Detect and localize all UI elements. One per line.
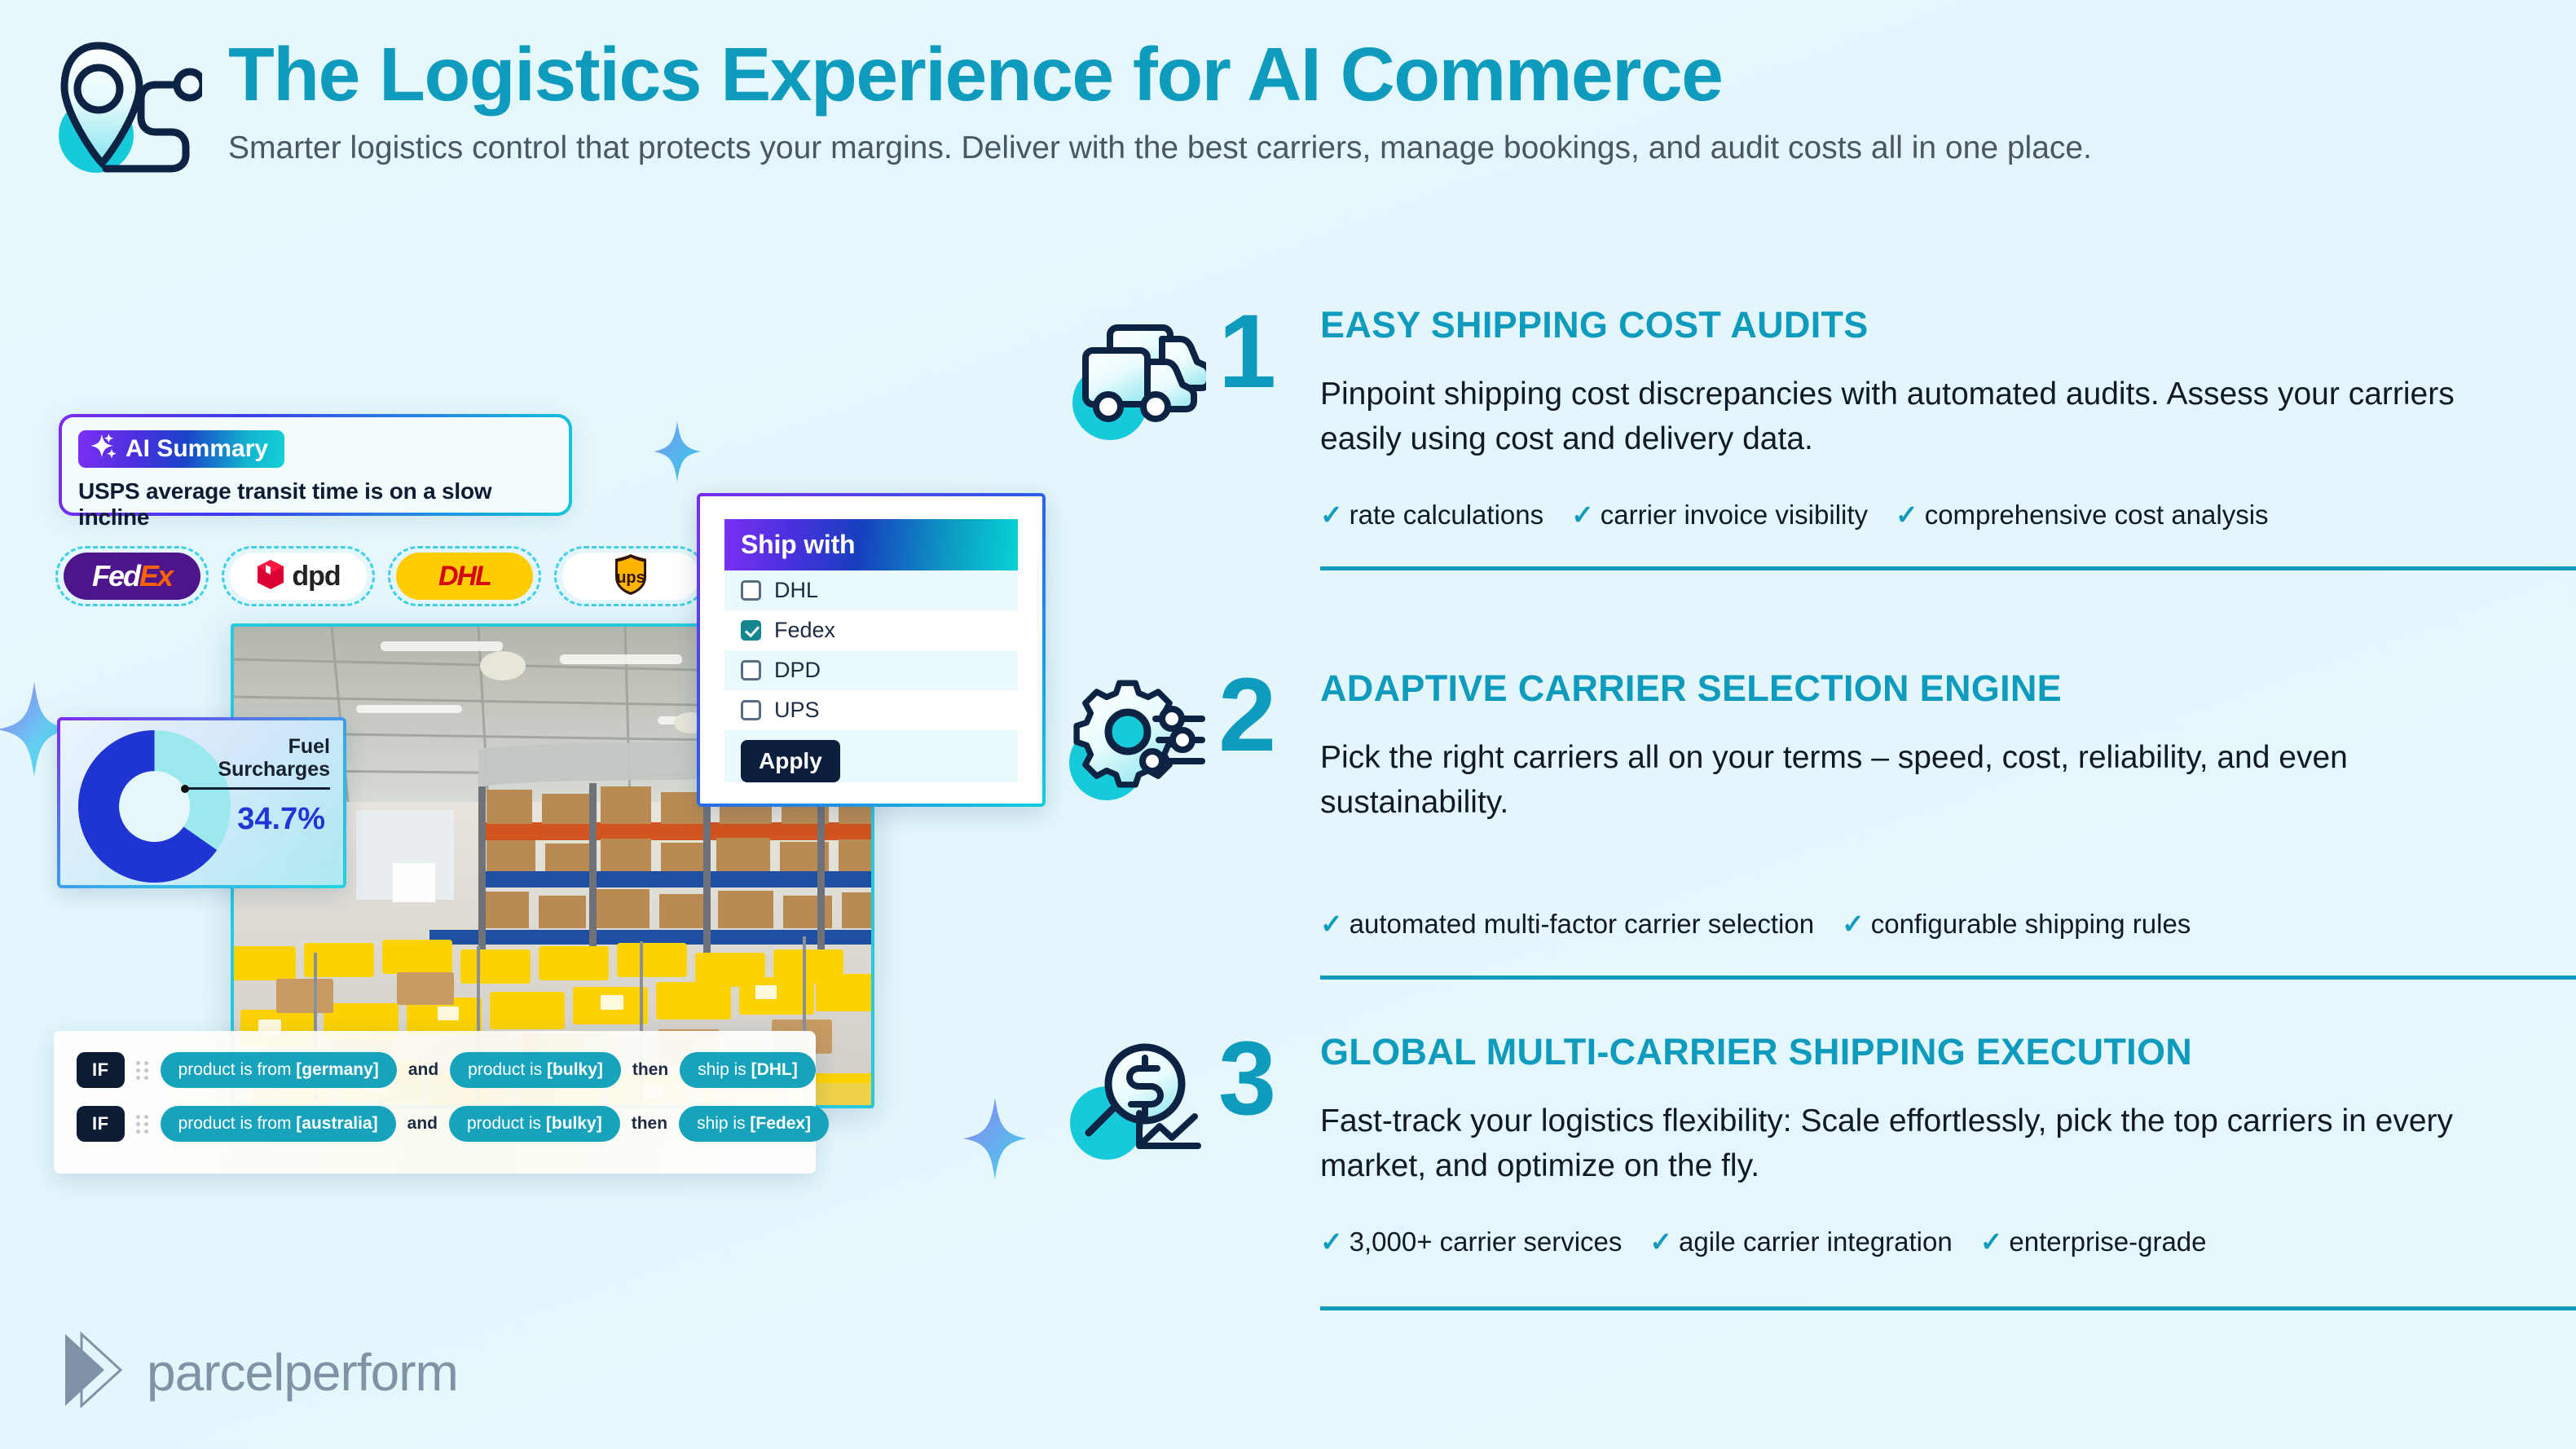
sparkle-icon: [652, 420, 702, 487]
fuel-surcharges-chart-card: Fuel Surcharges 34.7%: [57, 717, 346, 888]
brand-name: parcelperform: [147, 1342, 458, 1403]
callout-line: [187, 787, 330, 790]
parcelperform-triangle-icon: [59, 1331, 127, 1413]
product-visual-collage: AI Summary USPS average transit time is …: [0, 342, 1059, 1279]
feature-item-3: 3 GLOBAL MULTI-CARRIER SHIPPING EXECUTIO…: [1068, 1032, 2526, 1372]
rule-then: then: [632, 1114, 667, 1134]
if-badge: IF: [77, 1052, 125, 1088]
dpd-logo: dpd: [292, 561, 340, 592]
donut-chart-label: Fuel Surcharges: [183, 735, 330, 781]
check-icon: ✓: [1842, 909, 1865, 939]
svg-text:ups: ups: [616, 569, 645, 587]
feature-tag: ✓automated multi-factor carrier selectio…: [1320, 908, 1814, 940]
option-label: UPS: [774, 698, 820, 723]
check-icon: ✓: [1649, 1227, 1672, 1257]
apply-button[interactable]: Apply: [741, 740, 840, 782]
feature-description: Pinpoint shipping cost discrepancies wit…: [1320, 372, 2526, 462]
option-label: Fedex: [774, 618, 835, 643]
carrier-logo-row: FedEx dpd DHL: [55, 546, 707, 606]
rule-condition-2[interactable]: product is [bulky]: [449, 1106, 620, 1142]
ship-with-option-dpd[interactable]: DPD: [724, 650, 1018, 690]
feature-title: EASY SHIPPING COST AUDITS: [1320, 305, 2526, 346]
rule-conjunction: and: [407, 1114, 438, 1134]
feature-tags: ✓automated multi-factor carrier selectio…: [1320, 908, 2526, 940]
ship-with-panel: Ship with DHL Fedex DPD UPS Apply: [697, 493, 1046, 807]
feature-tag: ✓agile carrier integration: [1649, 1226, 1952, 1257]
check-icon: ✓: [1320, 1227, 1343, 1257]
feature-tags: ✓rate calculations ✓carrier invoice visi…: [1320, 499, 2526, 531]
feature-title: GLOBAL MULTI-CARRIER SHIPPING EXECUTION: [1320, 1032, 2526, 1072]
rule-action[interactable]: ship is [DHL]: [680, 1052, 816, 1088]
option-label: DPD: [774, 658, 821, 683]
check-icon: ✓: [1320, 909, 1343, 939]
feature-list: 1 EASY SHIPPING COST AUDITS Pinpoint shi…: [1068, 302, 2526, 1372]
drag-handle-icon[interactable]: [136, 1112, 149, 1136]
feature-item-2: 2 ADAPTIVE CARRIER SELECTION ENGINE Pick…: [1068, 668, 2526, 1009]
shipping-rules-card: IF product is from [germany] and product…: [54, 1031, 816, 1174]
ship-with-option-dhl[interactable]: DHL: [724, 570, 1018, 610]
rule-action[interactable]: ship is [Fedex]: [679, 1106, 829, 1142]
feature-number: 1: [1218, 300, 1273, 404]
option-label: DHL: [774, 578, 818, 603]
ship-with-option-fedex[interactable]: Fedex: [724, 610, 1018, 650]
checkbox-unchecked-icon[interactable]: [741, 700, 761, 720]
feature-number: 3: [1218, 1027, 1273, 1131]
if-badge: IF: [77, 1106, 125, 1142]
feature-tag: ✓comprehensive cost analysis: [1896, 499, 2269, 531]
carrier-chip-dhl[interactable]: DHL: [388, 546, 541, 606]
rule-then: then: [632, 1060, 668, 1080]
feature-number: 2: [1218, 663, 1273, 768]
drag-handle-icon[interactable]: [136, 1058, 149, 1082]
location-pin-route-icon: [57, 31, 202, 179]
section-divider: [1320, 976, 2576, 980]
feature-title: ADAPTIVE CARRIER SELECTION ENGINE: [1320, 668, 2526, 709]
feature-tag: ✓configurable shipping rules: [1842, 908, 2191, 940]
carrier-chip-fedex[interactable]: FedEx: [55, 546, 209, 606]
checkbox-unchecked-icon[interactable]: [741, 580, 761, 601]
carrier-chip-dpd[interactable]: dpd: [222, 546, 375, 606]
delivery-trucks-icon: [1068, 315, 1206, 445]
feature-tag: ✓carrier invoice visibility: [1571, 499, 1868, 531]
sparkle-icon: [962, 1096, 1028, 1185]
page-title: The Logistics Experience for AI Commerce: [228, 36, 2092, 113]
check-icon: ✓: [1571, 500, 1594, 530]
rule-condition-1[interactable]: product is from [australia]: [161, 1106, 396, 1142]
check-icon: ✓: [1980, 1227, 2003, 1257]
feature-tag: ✓3,000+ carrier services: [1320, 1226, 1622, 1257]
page-header: The Logistics Experience for AI Commerce…: [57, 31, 2526, 179]
gear-settings-icon: [1068, 678, 1206, 808]
check-icon: ✓: [1896, 500, 1918, 530]
ups-shield-icon: ups: [612, 553, 650, 600]
ship-with-option-ups[interactable]: UPS: [724, 690, 1018, 730]
dpd-box-icon: [256, 558, 285, 595]
feature-description: Pick the right carriers all on your term…: [1320, 735, 2526, 826]
dollar-magnifier-chart-icon: [1068, 1042, 1206, 1172]
ai-summary-card: AI Summary USPS average transit time is …: [59, 414, 572, 516]
page-subtitle: Smarter logistics control that protects …: [228, 127, 2092, 170]
ai-summary-note: USPS average transit time is on a slow i…: [78, 478, 553, 531]
footer-brand: parcelperform: [59, 1331, 458, 1413]
ship-with-title: Ship with: [724, 519, 1018, 570]
ai-summary-label: AI Summary: [125, 435, 268, 463]
rule-conjunction: and: [408, 1060, 438, 1080]
fedex-logo: FedEx: [92, 559, 172, 593]
sparkle-icon: [90, 432, 117, 466]
carrier-chip-ups[interactable]: ups: [554, 546, 707, 606]
feature-tags: ✓3,000+ carrier services ✓agile carrier …: [1320, 1226, 2526, 1257]
rule-row[interactable]: IF product is from [germany] and product…: [77, 1049, 793, 1091]
rule-condition-2[interactable]: product is [bulky]: [450, 1052, 621, 1088]
infographic-canvas: The Logistics Experience for AI Commerce…: [0, 0, 2576, 1449]
feature-tag: ✓rate calculations: [1320, 499, 1543, 531]
ai-summary-badge: AI Summary: [78, 430, 284, 468]
section-divider: [1320, 566, 2576, 570]
donut-chart-value: 34.7%: [237, 802, 325, 837]
section-divider: [1320, 1306, 2576, 1310]
feature-tag: ✓enterprise-grade: [1980, 1226, 2207, 1257]
checkbox-checked-icon[interactable]: [741, 620, 761, 641]
rule-condition-1[interactable]: product is from [germany]: [161, 1052, 397, 1088]
rule-row[interactable]: IF product is from [australia] and produ…: [77, 1103, 793, 1145]
dhl-logo: DHL: [438, 561, 491, 592]
check-icon: ✓: [1320, 500, 1343, 530]
feature-description: Fast-track your logistics flexibility: S…: [1320, 1099, 2526, 1189]
feature-item-1: 1 EASY SHIPPING COST AUDITS Pinpoint shi…: [1068, 305, 2526, 645]
checkbox-unchecked-icon[interactable]: [741, 660, 761, 680]
